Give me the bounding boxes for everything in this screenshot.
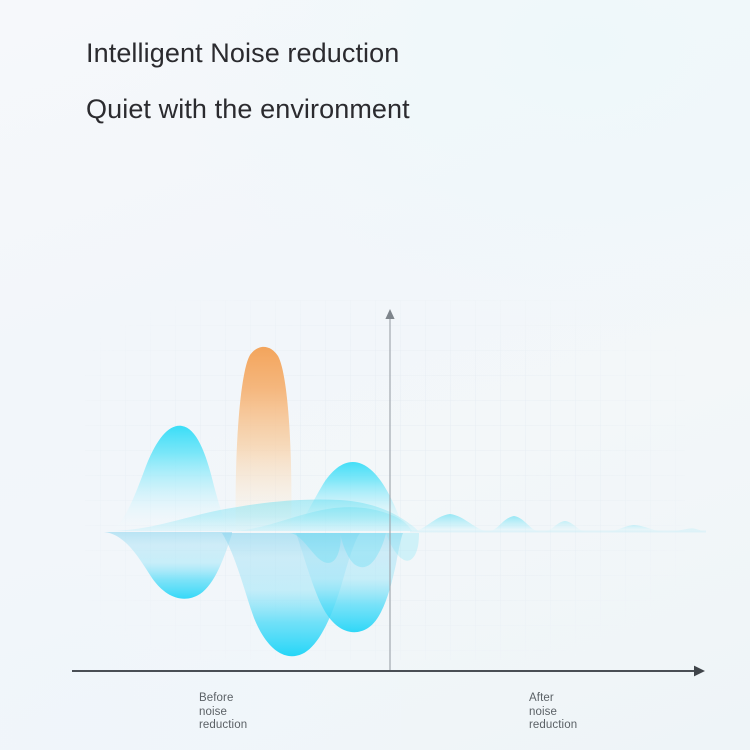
right-arrow-icon	[694, 666, 705, 677]
waveform-chart	[0, 0, 750, 750]
noise-reduction-infographic: Intelligent Noise reduction Quiet with t…	[0, 0, 750, 750]
caption-after-noise-reduction: After noise reduction	[529, 692, 577, 733]
caption-before-noise-reduction: Before noise reduction	[199, 692, 247, 733]
x-axis	[72, 666, 705, 677]
